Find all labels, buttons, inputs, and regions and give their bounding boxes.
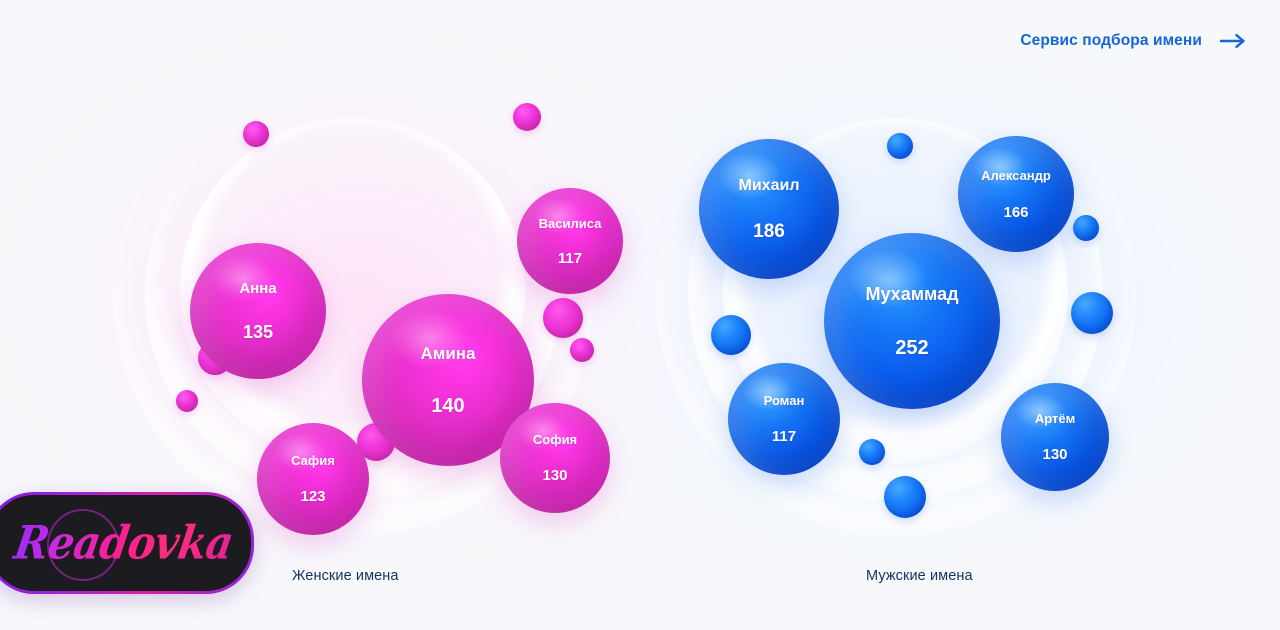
decorative-bubble-dot <box>711 315 751 355</box>
name-bubble-value: 252 <box>895 338 928 358</box>
name-bubble-value: 166 <box>1003 205 1028 220</box>
name-bubble-value: 117 <box>772 429 796 444</box>
name-bubble-label: София <box>533 433 577 446</box>
name-picker-service-link[interactable]: Сервис подбора имени <box>1020 32 1246 50</box>
name-bubble[interactable]: Артём130 <box>1001 383 1109 491</box>
name-bubble-label: Амина <box>420 345 475 362</box>
name-bubble-value: 130 <box>542 468 567 483</box>
decorative-bubble-dot <box>859 439 885 465</box>
name-picker-service-label: Сервис подбора имени <box>1020 32 1202 50</box>
decorative-bubble-dot <box>176 390 198 412</box>
name-bubble[interactable]: Мухаммад252 <box>824 233 1000 409</box>
name-bubble-value: 135 <box>243 323 273 341</box>
decorative-bubble-dot <box>887 133 913 159</box>
decorative-bubble-dot <box>513 103 541 131</box>
male-cluster-caption: Мужские имена <box>866 568 973 584</box>
name-bubble-label: Роман <box>764 394 805 407</box>
decorative-bubble-dot <box>243 121 269 147</box>
name-bubble-value: 140 <box>431 396 464 416</box>
arrow-right-icon <box>1220 33 1246 49</box>
name-bubble-value: 130 <box>1042 447 1067 462</box>
name-bubble-label: Александр <box>981 169 1051 182</box>
name-bubble-label: Василиса <box>539 217 602 230</box>
male-names-cluster: Мухаммад252Михаил186Александр166Артём130… <box>648 78 1168 508</box>
name-bubble-value: 117 <box>558 251 582 266</box>
decorative-bubble-dot <box>570 338 594 362</box>
name-bubble[interactable]: Михаил186 <box>699 139 839 279</box>
infographic-canvas: Сервис подбора имени Амина140Анна135Софи… <box>0 0 1280 630</box>
decorative-bubble-dot <box>884 476 926 518</box>
name-bubble-label: Михаил <box>739 178 800 194</box>
female-names-cluster: Амина140Анна135София130Сафия123Василиса1… <box>105 78 625 508</box>
readovka-logo[interactable]: Readovka <box>0 492 254 594</box>
decorative-bubble-dot <box>1071 292 1113 334</box>
name-bubble[interactable]: Александр166 <box>958 136 1074 252</box>
name-bubble[interactable]: София130 <box>500 403 610 513</box>
name-bubble-label: Сафия <box>291 454 335 467</box>
decorative-bubble-dot <box>1073 215 1099 241</box>
name-bubble[interactable]: Роман117 <box>728 363 840 475</box>
name-bubble-label: Артём <box>1035 412 1075 425</box>
name-bubble[interactable]: Анна135 <box>190 243 326 379</box>
name-bubble-value: 123 <box>300 489 325 504</box>
readovka-logo-text: Readovka <box>3 516 237 570</box>
name-bubble[interactable]: Василиса117 <box>517 188 623 294</box>
name-bubble-label: Анна <box>239 281 276 296</box>
female-cluster-caption: Женские имена <box>292 568 399 584</box>
decorative-bubble-dot <box>543 298 583 338</box>
name-bubble-value: 186 <box>753 222 785 241</box>
name-bubble-label: Мухаммад <box>865 285 958 303</box>
name-bubble[interactable]: Сафия123 <box>257 423 369 535</box>
